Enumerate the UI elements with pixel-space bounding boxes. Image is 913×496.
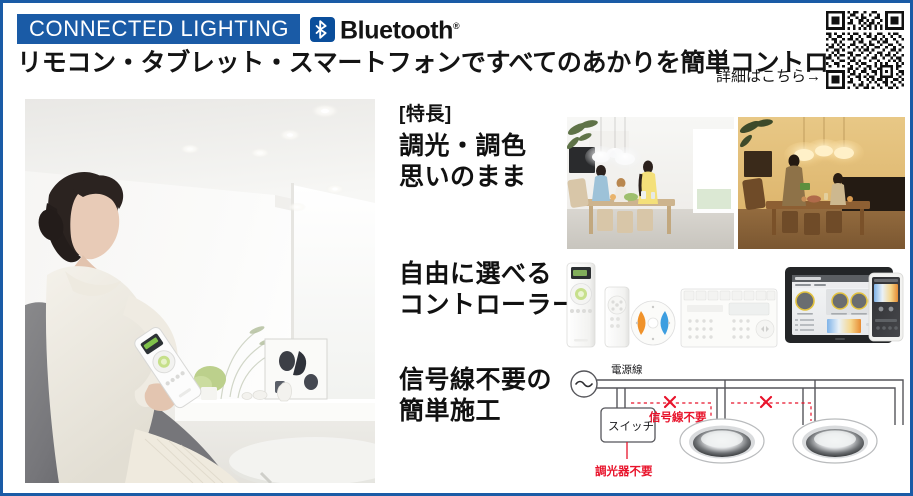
downlight-1 [680, 419, 764, 463]
no-dimmer-label: 調光器不要 [595, 464, 653, 478]
registered-mark: ® [453, 21, 459, 31]
feature-title-controllers: 自由に選べる コントローラー [399, 259, 578, 321]
smartphone [869, 273, 903, 341]
qr-code-icon[interactable] [826, 11, 904, 89]
qr-caption: 詳細はこちら→ [716, 68, 821, 86]
downlight-2 [793, 419, 877, 463]
ac-source-symbol [571, 371, 597, 397]
power-line-label: 電源線 [611, 363, 643, 376]
cross-mark-left [665, 397, 675, 407]
switch-label: スイッチ [608, 420, 654, 433]
wall-panel [681, 289, 777, 347]
hero-photo-woman-with-remote [25, 99, 375, 483]
wiring-diagram: 電源線 スイッチ 調光器不要 [565, 355, 910, 487]
header: CONNECTED LIGHTING Bluetooth® リモコン・タブレット… [3, 3, 913, 95]
bluetooth-logo: Bluetooth® [310, 13, 459, 45]
qr-block[interactable]: 詳細はこちら→ [716, 11, 904, 89]
controller-lineup [563, 259, 909, 351]
room-photo-warm-light [738, 117, 905, 249]
cross-mark-right [761, 397, 771, 407]
bluetooth-word-text: Bluetooth [340, 17, 453, 45]
connected-lighting-banner: CONNECTED LIGHTING [17, 14, 300, 44]
feature-title-dimming-color: 調光・調色 思いのまま [399, 131, 527, 193]
no-signal-line-label: 信号線不要 [649, 410, 707, 424]
features-section-label: [特長] [399, 99, 452, 126]
room-scene-photos [567, 117, 905, 249]
banner-label: CONNECTED LIGHTING [29, 14, 289, 44]
room-photo-cool-white [567, 117, 734, 249]
switch-box: スイッチ [601, 408, 655, 442]
large-remote [567, 263, 595, 347]
bluetooth-wordmark: Bluetooth® [340, 14, 459, 43]
feature-title-no-signal-wiring: 信号線不要の 簡単施工 [399, 365, 552, 427]
advertisement-page: CONNECTED LIGHTING Bluetooth® リモコン・タブレット… [0, 0, 913, 496]
bluetooth-icon [310, 17, 335, 42]
round-dial [631, 301, 675, 345]
small-remote [605, 287, 629, 347]
